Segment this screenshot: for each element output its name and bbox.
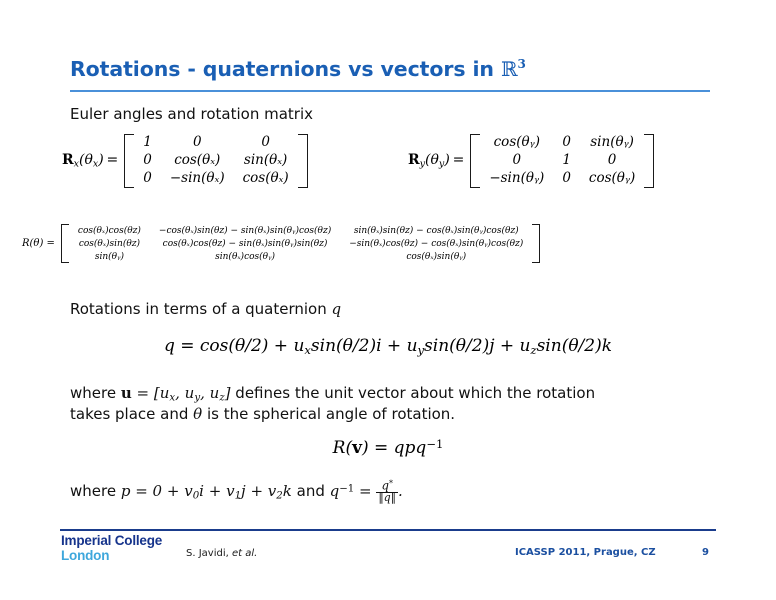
q-inverse-fraction: q*‖q‖ — [376, 480, 398, 504]
footer-page-number: 9 — [702, 547, 709, 558]
matrix-row: 1 0 0 — [134, 134, 297, 152]
euler-section-heading: Euler angles and rotation matrix — [70, 105, 313, 123]
title-underline-rule — [70, 90, 710, 92]
unit-vector-description-line-2: takes place and θ is the spherical angle… — [70, 405, 455, 423]
unit-vector-description-line-1: where u = [ux, uy, uz] defines the unit … — [70, 384, 595, 404]
matrix-cell: 1 — [553, 152, 580, 170]
bracket-left — [470, 134, 480, 188]
matrix-cell: 0 — [580, 152, 644, 170]
r-theta-label: R(θ) = — [22, 238, 61, 249]
matrix-row: 0 1 0 — [480, 152, 644, 170]
matrix-cell: 0 — [553, 134, 580, 152]
bracket-left — [61, 224, 69, 263]
ry-label: Ry(θy) = — [408, 152, 470, 169]
matrix-cell: sin(θₓ) — [234, 152, 298, 170]
bracket-right — [532, 224, 540, 263]
matrix-cell: 0 — [480, 152, 553, 170]
title-exponent: 3 — [518, 57, 526, 71]
quaternion-equation: q = cos(θ/2) + uxsin(θ/2)i + uysin(θ/2)j… — [0, 336, 776, 357]
matrix-row: 0 −sin(θₓ) cos(θₓ) — [134, 170, 297, 188]
matrix-cell: −cos(θₓ)sin(θᴢ) − sin(θₓ)sin(θᵧ)cos(θᴢ) — [150, 224, 340, 237]
matrix-cell: −sin(θᵧ) — [480, 170, 553, 188]
matrix-cell: −sin(θₓ) — [161, 170, 234, 188]
rotation-matrix-y: Ry(θy) = cos(θᵧ) 0 sin(θᵧ) 0 1 0 −sin(θᵧ… — [408, 134, 654, 188]
footer-divider — [60, 529, 716, 531]
matrix-cell: 0 — [234, 134, 298, 152]
blackboard-r-symbol: ℝ — [501, 57, 518, 81]
footer-author-etal: et al. — [232, 548, 257, 559]
quaternion-section-heading: Rotations in terms of a quaternion q — [70, 300, 341, 318]
p-definition-line: where p = 0 + v0i + v1j + v2k and q−1 = … — [70, 480, 403, 504]
bracket-right — [644, 134, 654, 188]
matrix-cell: cos(θᵧ) — [580, 170, 644, 188]
matrix-cell: sin(θᵧ) — [580, 134, 644, 152]
bracket-right — [298, 134, 308, 188]
bracket-left — [124, 134, 134, 188]
matrix-cell: 0 — [134, 152, 161, 170]
r-theta-cells: cos(θₓ)cos(θᴢ) −cos(θₓ)sin(θᴢ) − sin(θₓ)… — [69, 224, 532, 263]
matrix-cell: cos(θₓ)sin(θᵧ) — [340, 250, 532, 263]
rx-cells: 1 0 0 0 cos(θₓ) sin(θₓ) 0 −sin(θₓ) cos(θ… — [134, 134, 297, 188]
imperial-college-london-logo: Imperial College London — [61, 534, 162, 563]
matrix-cell: 0 — [553, 170, 580, 188]
matrix-cell: cos(θₓ)sin(θᴢ) — [69, 237, 150, 250]
logo-line-2: London — [61, 549, 162, 564]
matrix-cell: cos(θₓ)cos(θᴢ) − sin(θₓ)sin(θᵧ)sin(θᴢ) — [150, 237, 340, 250]
matrix-cell: cos(θₓ)cos(θᴢ) — [69, 224, 150, 237]
matrix-row: cos(θₓ)sin(θᴢ) cos(θₓ)cos(θᴢ) − sin(θₓ)s… — [69, 237, 532, 250]
footer-author: S. Javidi, et al. — [186, 548, 257, 559]
matrix-cell: sin(θₓ)sin(θᴢ) − cos(θₓ)sin(θᵧ)cos(θᴢ) — [340, 224, 532, 237]
matrix-cell: cos(θᵧ) — [480, 134, 553, 152]
matrix-row: sin(θᵧ) sin(θₓ)cos(θᵧ) cos(θₓ)sin(θᵧ) — [69, 250, 532, 263]
rotation-matrix-full: R(θ) = cos(θₓ)cos(θᴢ) −cos(θₓ)sin(θᴢ) − … — [22, 224, 540, 263]
rotation-matrix-x: Rx(θx) = 1 0 0 0 cos(θₓ) sin(θₓ) 0 −sin(… — [62, 134, 308, 188]
logo-line-1: Imperial College — [61, 534, 162, 549]
matrix-cell: 1 — [134, 134, 161, 152]
quaternion-heading-text: Rotations in terms of a quaternion — [70, 300, 332, 318]
ry-cells: cos(θᵧ) 0 sin(θᵧ) 0 1 0 −sin(θᵧ) 0 cos(θ… — [480, 134, 644, 188]
page-title: Rotations - quaternions vs vectors in ℝ3 — [70, 57, 526, 81]
matrix-cell: 0 — [161, 134, 234, 152]
matrix-cell: cos(θₓ) — [234, 170, 298, 188]
footer-venue: ICASSP 2011, Prague, CZ — [515, 547, 656, 558]
matrix-row: cos(θₓ)cos(θᴢ) −cos(θₓ)sin(θᴢ) − sin(θₓ)… — [69, 224, 532, 237]
matrix-cell: sin(θₓ)cos(θᵧ) — [150, 250, 340, 263]
matrix-cell: 0 — [134, 170, 161, 188]
matrix-cell: −sin(θₓ)cos(θᴢ) − cos(θₓ)sin(θᵧ)cos(θᴢ) — [340, 237, 532, 250]
matrix-cell: sin(θᵧ) — [69, 250, 150, 263]
matrix-row: 0 cos(θₓ) sin(θₓ) — [134, 152, 297, 170]
matrix-row: −sin(θᵧ) 0 cos(θᵧ) — [480, 170, 644, 188]
rotation-action-equation: R(v) = qpq−1 — [0, 437, 776, 458]
matrix-cell: cos(θₓ) — [161, 152, 234, 170]
quaternion-heading-symbol: q — [332, 300, 342, 318]
page-title-text: Rotations - quaternions vs vectors in — [70, 57, 501, 81]
matrix-row: cos(θᵧ) 0 sin(θᵧ) — [480, 134, 644, 152]
rx-label: Rx(θx) = — [62, 152, 124, 169]
footer-author-name: S. Javidi, — [186, 548, 232, 559]
